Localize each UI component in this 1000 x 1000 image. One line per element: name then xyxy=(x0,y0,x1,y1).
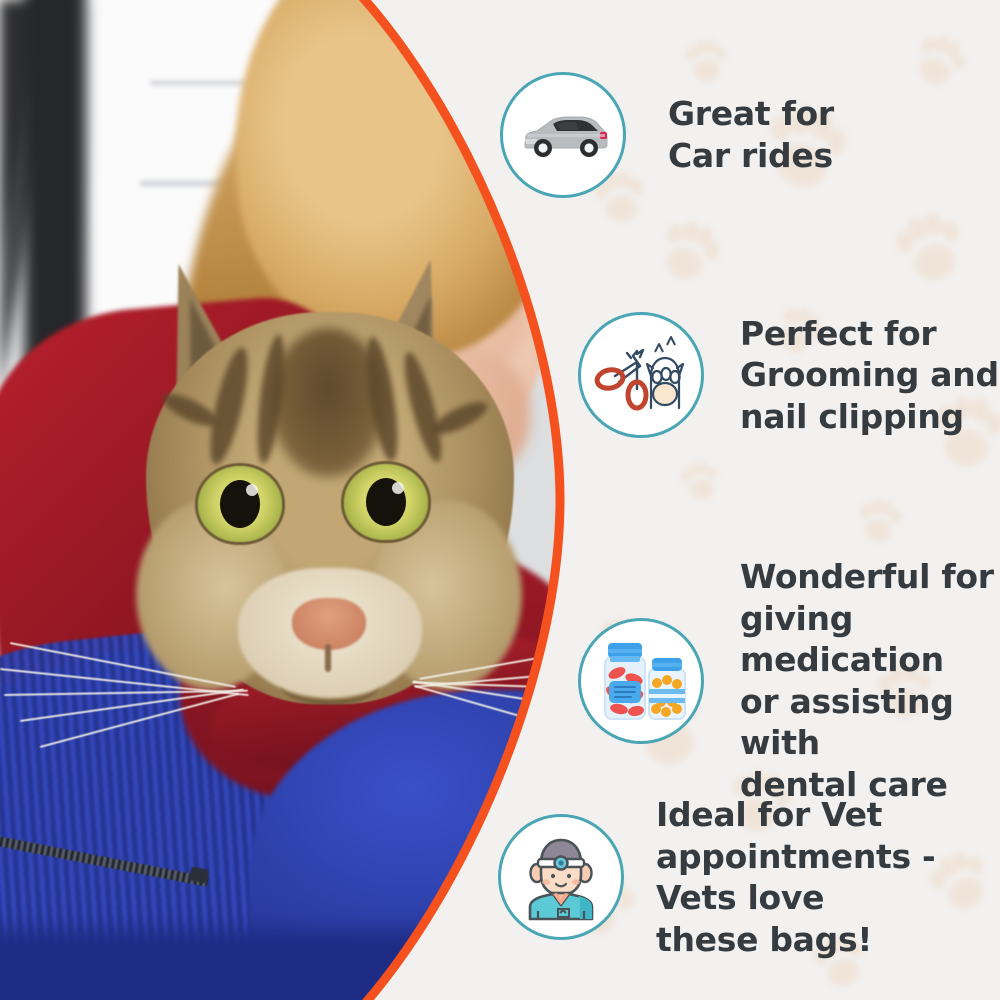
feature-item-grooming: Perfect for Grooming and nail clipping xyxy=(578,312,999,438)
infographic-canvas: Great for Car rides xyxy=(0,0,1000,1000)
feature-badge-car-rides xyxy=(500,72,626,198)
veterinarian-icon xyxy=(516,833,606,921)
feature-list: Great for Car rides xyxy=(0,0,1000,1000)
feature-item-vet: Ideal for Vet appointments - Vets love t… xyxy=(498,794,935,960)
feature-badge-grooming xyxy=(578,312,704,438)
feature-badge-vet xyxy=(498,814,624,940)
feature-text-medication: Wonderful for giving medication or assis… xyxy=(740,556,1000,805)
feature-badge-medication xyxy=(578,618,704,744)
feature-text-car-rides: Great for Car rides xyxy=(668,93,834,176)
feature-item-medication: Wonderful for giving medication or assis… xyxy=(578,556,1000,805)
feature-item-car-rides: Great for Car rides xyxy=(500,72,834,198)
pill-bottles-icon xyxy=(593,639,689,723)
feature-text-vet: Ideal for Vet appointments - Vets love t… xyxy=(656,794,935,960)
nail-clippers-paw-icon xyxy=(593,332,689,418)
car-icon xyxy=(517,108,609,162)
feature-text-grooming: Perfect for Grooming and nail clipping xyxy=(740,313,999,438)
